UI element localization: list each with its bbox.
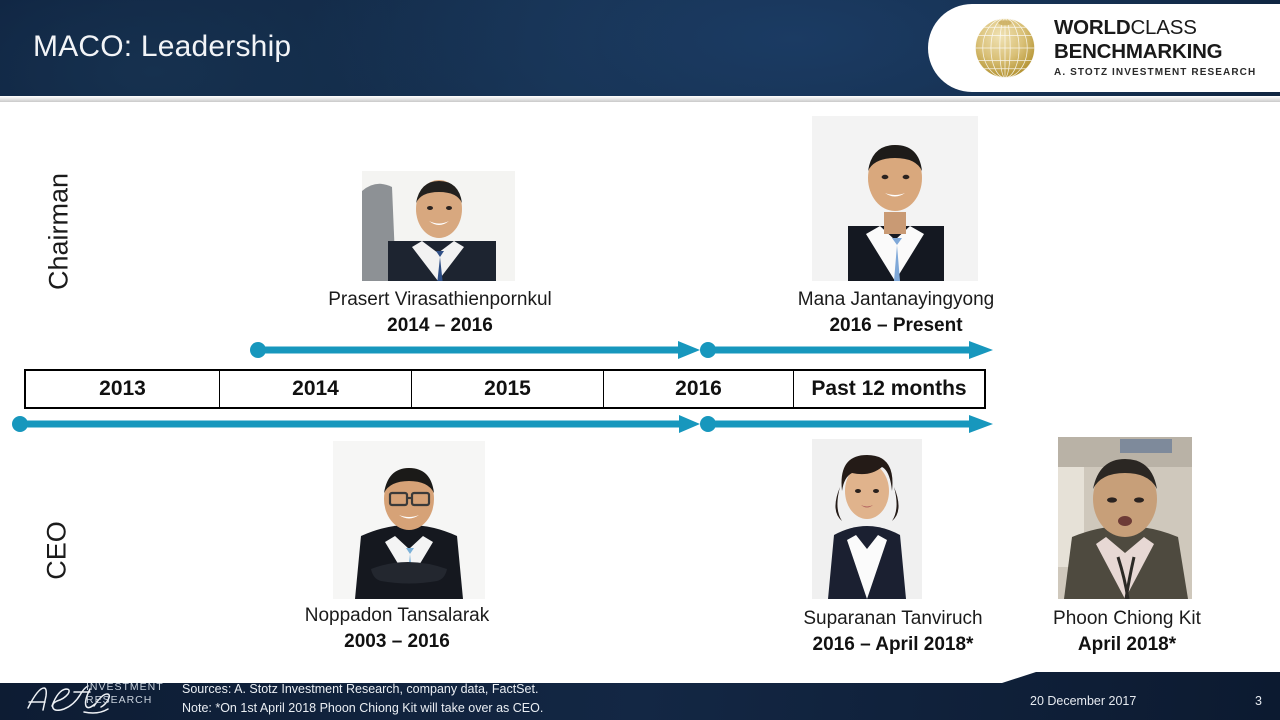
ceo-1-name: Noppadon Tansalarak [277, 604, 517, 628]
caption-ceo-1: Noppadon Tansalarak 2003 – 2016 [277, 604, 517, 655]
brand-word-class: CLASS [1130, 16, 1196, 39]
signature-sub-line-2: RESEARCH [86, 694, 164, 707]
chairman-1-range: 2014 – 2016 [320, 312, 560, 340]
footer-date: 20 December 2017 [1030, 694, 1136, 708]
footer-page-number: 3 [1255, 694, 1262, 708]
timeline-cell-2013[interactable]: 2013 [26, 371, 220, 407]
globe-icon [968, 11, 1042, 85]
caption-chairman-2: Mana Jantanayingyong 2016 – Present [776, 288, 1016, 339]
slide: MACO: Leadership [0, 0, 1280, 720]
caption-chairman-1: Prasert Virasathienpornkul 2014 – 2016 [320, 288, 560, 339]
timeline-cell-past-12-months[interactable]: Past 12 months [794, 371, 984, 407]
stotz-signature-subtext: INVESTMENT RESEARCH [86, 681, 164, 707]
timeline-cell-2014[interactable]: 2014 [220, 371, 412, 407]
ceo-3-range: April 2018* [1007, 631, 1247, 659]
chairman-2-range: 2016 – Present [776, 312, 1016, 340]
tenure-arrow-ceo-1 [11, 413, 702, 435]
ceo-2-range: 2016 – April 2018* [773, 631, 1013, 659]
sources-text: Sources: A. Stotz Investment Research, c… [182, 680, 543, 699]
caption-ceo-2: Suparanan Tanviruch 2016 – April 2018* [773, 607, 1013, 658]
photo-ceo-1 [333, 441, 485, 599]
ceo-2-name: Suparanan Tanviruch [773, 607, 1013, 631]
chairman-1-name: Prasert Virasathienpornkul [320, 288, 560, 312]
timeline-cell-2015[interactable]: 2015 [412, 371, 604, 407]
timeline-cell-2016[interactable]: 2016 [604, 371, 794, 407]
page-title: MACO: Leadership [33, 30, 291, 64]
chairman-2-name: Mana Jantanayingyong [776, 288, 1016, 312]
signature-sub-line-1: INVESTMENT [86, 681, 164, 694]
photo-chairman-1 [362, 171, 515, 281]
row-label-chairman: Chairman [44, 152, 75, 312]
caption-ceo-3: Phoon Chiong Kit April 2018* [1007, 607, 1247, 658]
slide-header: MACO: Leadership [0, 0, 1280, 96]
header-divider [0, 96, 1280, 102]
brand-word-world: WORLD [1054, 16, 1130, 39]
footer-sources: Sources: A. Stotz Investment Research, c… [182, 680, 543, 719]
tenure-arrow-ceo-2 [699, 413, 995, 435]
brand-word-benchmarking: BENCHMARKING [1054, 42, 1256, 63]
row-label-ceo: CEO [42, 491, 73, 611]
tenure-arrow-chairman-1 [250, 339, 702, 361]
photo-ceo-3 [1058, 437, 1192, 599]
photo-chairman-2 [812, 116, 978, 281]
photo-ceo-2 [812, 439, 922, 599]
brand-tagline: A. STOTZ INVESTMENT RESEARCH [1054, 68, 1256, 78]
ceo-3-name: Phoon Chiong Kit [1007, 607, 1247, 631]
note-text: Note: *On 1st April 2018 Phoon Chiong Ki… [182, 699, 543, 718]
tenure-arrow-chairman-2 [699, 339, 995, 361]
brand-wordmark: WORLDCLASS BENCHMARKING A. STOTZ INVESTM… [1054, 18, 1256, 78]
ceo-1-range: 2003 – 2016 [277, 628, 517, 656]
timeline-table: 2013 2014 2015 2016 Past 12 months [24, 369, 986, 409]
brand-logo: WORLDCLASS BENCHMARKING A. STOTZ INVESTM… [928, 4, 1280, 92]
